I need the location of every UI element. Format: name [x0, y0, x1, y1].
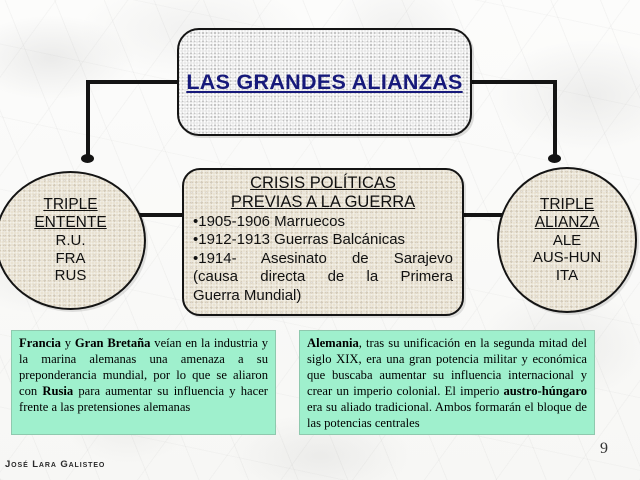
crisis-politicas-box: CRISIS POLÍTICAS PREVIAS A LA GUERRA •19…	[182, 168, 464, 316]
page-number: 9	[600, 440, 608, 458]
crisis-item: (causa directa de la Primera	[193, 268, 453, 285]
note-bold: Francia	[19, 336, 61, 350]
triple-alianza-members: ALE AUS-HUN ITA	[533, 232, 601, 284]
crisis-item: •1914- Asesinato de Sarajevo	[193, 250, 453, 267]
triple-entente-node: TRIPLE ENTENTE R.U. FRA RUS	[0, 171, 146, 310]
triple-entente-members: R.U. FRA RUS	[55, 232, 87, 284]
triple-alianza-title: TRIPLE ALIANZA	[535, 196, 600, 232]
crisis-item: Guerra Mundial)	[193, 287, 453, 304]
crisis-item: •1912-1913 Guerras Balcánicas	[193, 231, 453, 248]
triple-entente-title: TRIPLE ENTENTE	[34, 196, 106, 232]
note-entente: Francia y Gran Bretaña veían en la indus…	[11, 330, 276, 435]
title-box: LAS GRANDES ALIANZAS	[177, 28, 472, 136]
note-bold: Gran Bretaña	[75, 336, 151, 350]
connector-dot-right	[548, 154, 561, 163]
page-title: LAS GRANDES ALIANZAS	[186, 69, 462, 95]
note-text: era su aliado tradicional. Ambos formará…	[307, 400, 587, 430]
note-alianza: Alemania, tras su unificación en la segu…	[299, 330, 595, 435]
note-bold: austro-húngaro	[503, 384, 587, 398]
author-credit: José Lara Galisteo	[5, 459, 105, 470]
crisis-item: •1905-1906 Marruecos	[193, 213, 453, 230]
note-text: y	[61, 336, 75, 350]
note-bold: Rusia	[42, 384, 73, 398]
connector-dot-left	[81, 154, 94, 163]
triple-alianza-node: TRIPLE ALIANZA ALE AUS-HUN ITA	[497, 167, 637, 313]
crisis-heading: CRISIS POLÍTICAS PREVIAS A LA GUERRA	[193, 174, 453, 212]
note-bold: Alemania	[307, 336, 359, 350]
